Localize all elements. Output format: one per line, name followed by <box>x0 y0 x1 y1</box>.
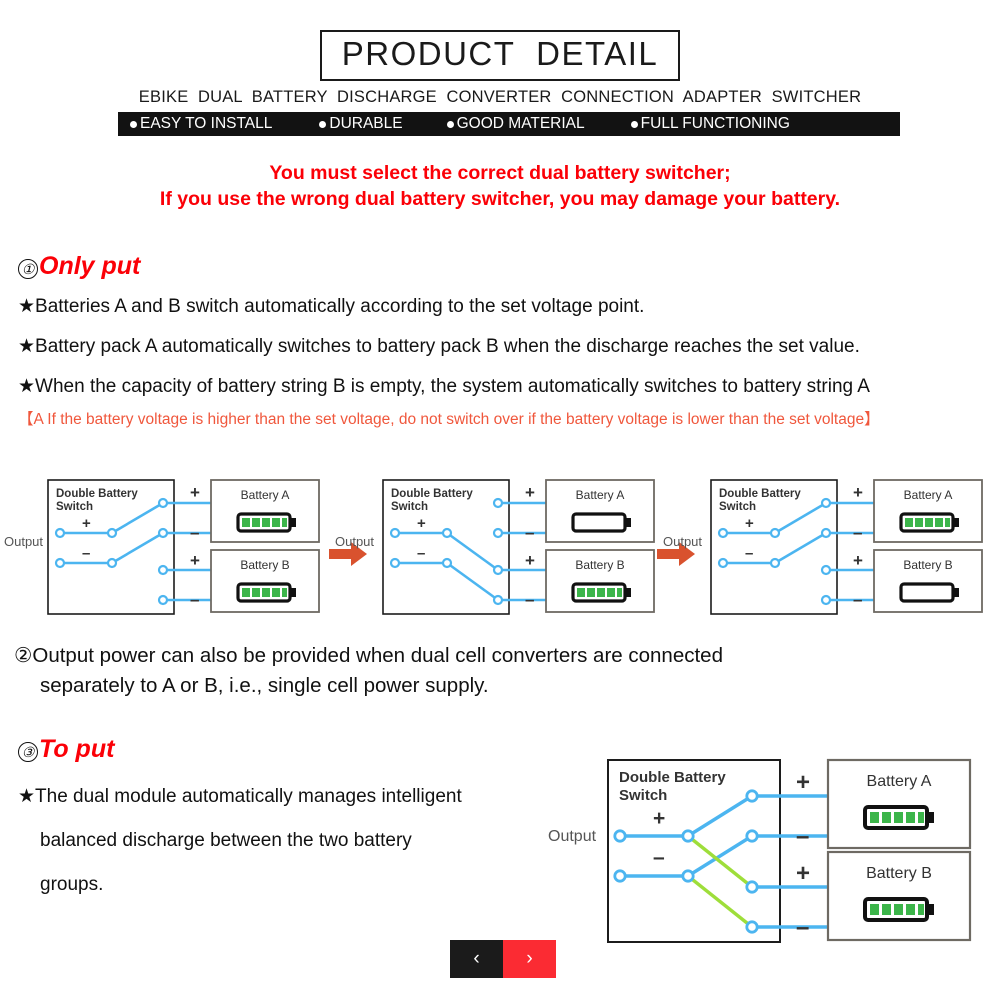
svg-text:+: + <box>653 807 665 830</box>
section-3-line-1: ★The dual module automatically manages i… <box>18 775 462 819</box>
svg-text:–: – <box>653 846 665 869</box>
svg-text:+: + <box>796 860 810 887</box>
svg-text:–: – <box>525 523 534 542</box>
svg-text:–: – <box>525 590 534 609</box>
feature-item-good-material: GOOD MATERIAL <box>447 115 585 133</box>
section-3-line-3: groups. <box>18 863 462 907</box>
svg-text:Double Battery: Double Battery <box>391 488 473 500</box>
dot-icon <box>447 121 454 128</box>
svg-text:Battery A: Battery A <box>867 773 932 790</box>
svg-text:Battery B: Battery B <box>575 558 624 572</box>
section-1-label: Only put <box>39 252 140 281</box>
svg-text:+: + <box>190 551 200 570</box>
section-1-bullet-1: ★Batteries A and B switch automatically … <box>18 287 880 327</box>
section-1-bullets: ★Batteries A and B switch automatically … <box>18 287 880 433</box>
section-3-label: To put <box>39 735 114 764</box>
svg-text:+: + <box>525 551 535 570</box>
diagram-state-b-active: Output Double Battery Switch + – + – + –… <box>325 466 665 626</box>
svg-text:Battery B: Battery B <box>866 865 932 882</box>
diagram-state-a-active: Output Double Battery Switch + – + – + – <box>0 466 330 626</box>
svg-text:+: + <box>82 515 91 532</box>
svg-text:Battery B: Battery B <box>903 558 952 572</box>
svg-text:Battery B: Battery B <box>240 558 289 572</box>
svg-text:+: + <box>417 515 426 532</box>
feature-label: GOOD MATERIAL <box>457 115 585 133</box>
section-1-bullet-3: ★When the capacity of battery string B i… <box>18 367 880 407</box>
svg-text:Double Battery: Double Battery <box>619 769 726 786</box>
section-1-number: ① <box>18 259 38 279</box>
svg-text:Switch: Switch <box>619 787 667 804</box>
dot-icon <box>130 121 137 128</box>
dot-icon <box>319 121 326 128</box>
svg-text:–: – <box>190 590 199 609</box>
svg-text:–: – <box>82 545 90 562</box>
svg-text:–: – <box>853 590 862 609</box>
svg-text:+: + <box>525 483 535 502</box>
svg-text:–: – <box>417 545 425 562</box>
feature-item-easy-to-install: EASY TO INSTALL <box>130 115 272 133</box>
svg-text:–: – <box>853 523 862 542</box>
feature-item-full-functioning: FULL FUNCTIONING <box>631 115 790 133</box>
svg-text:+: + <box>853 551 863 570</box>
section-1-bullet-2: ★Battery pack A automatically switches t… <box>18 327 880 367</box>
prev-button[interactable]: ‹ <box>450 940 503 978</box>
section-3-number: ③ <box>18 742 38 762</box>
svg-text:Battery A: Battery A <box>576 488 625 502</box>
page-subtitle: EBIKE DUAL BATTERY DISCHARGE CONVERTER C… <box>0 88 1000 107</box>
svg-text:Switch: Switch <box>56 501 93 513</box>
section-2-number: ② <box>14 644 32 667</box>
feature-label: DURABLE <box>329 115 402 133</box>
next-button[interactable]: › <box>503 940 556 978</box>
svg-text:Output: Output <box>4 534 43 549</box>
feature-label: FULL FUNCTIONING <box>641 115 790 133</box>
diagram-state-balanced: Output Double Battery Switch + – + – + – <box>540 752 990 952</box>
diagram-state-a-restored: Output Double Battery Switch + – + – + –… <box>653 466 1000 626</box>
section-2-text: ②Output power can also be provided when … <box>14 641 964 701</box>
feature-item-durable: DURABLE <box>319 115 402 133</box>
svg-text:Double Battery: Double Battery <box>56 488 138 500</box>
svg-text:Battery A: Battery A <box>241 488 290 502</box>
svg-text:Output: Output <box>335 534 374 549</box>
svg-text:–: – <box>745 545 753 562</box>
section-3-line-2: balanced discharge between the two batte… <box>18 819 462 863</box>
section-3-heading: ③ To put <box>18 735 114 764</box>
feature-bar: EASY TO INSTALL DURABLE GOOD MATERIAL FU… <box>118 112 900 136</box>
page-header: PRODUCT DETAIL EBIKE DUAL BATTERY DISCHA… <box>0 0 1000 107</box>
svg-text:Switch: Switch <box>391 501 428 513</box>
dot-icon <box>631 121 638 128</box>
warning-banner: You must select the correct dual battery… <box>0 160 1000 212</box>
section-3-text: ★The dual module automatically manages i… <box>18 775 462 907</box>
svg-text:+: + <box>190 483 200 502</box>
feature-label: EASY TO INSTALL <box>140 115 272 133</box>
svg-text:Output: Output <box>663 534 702 549</box>
section-2-line-2: separately to A or B, i.e., single cell … <box>14 671 964 701</box>
svg-text:–: – <box>796 914 809 941</box>
page-title-box: PRODUCT DETAIL <box>320 30 680 81</box>
svg-text:+: + <box>796 769 810 796</box>
section-1-heading: ① Only put <box>18 252 140 281</box>
warning-line-2: If you use the wrong dual battery switch… <box>0 186 1000 212</box>
svg-text:Double Battery: Double Battery <box>719 488 801 500</box>
section-2-line-1: Output power can also be provided when d… <box>32 644 723 667</box>
page-title: PRODUCT DETAIL <box>322 35 678 73</box>
svg-text:–: – <box>796 823 809 850</box>
svg-text:Output: Output <box>548 828 597 845</box>
svg-text:Switch: Switch <box>719 501 756 513</box>
warning-line-1: You must select the correct dual battery… <box>0 160 1000 186</box>
svg-text:Battery A: Battery A <box>904 488 953 502</box>
svg-text:+: + <box>853 483 863 502</box>
svg-text:+: + <box>745 515 754 532</box>
gallery-nav: ‹ › <box>450 940 556 978</box>
section-1-note: 【A If the battery voltage is higher than… <box>18 407 880 433</box>
svg-text:–: – <box>190 523 199 542</box>
